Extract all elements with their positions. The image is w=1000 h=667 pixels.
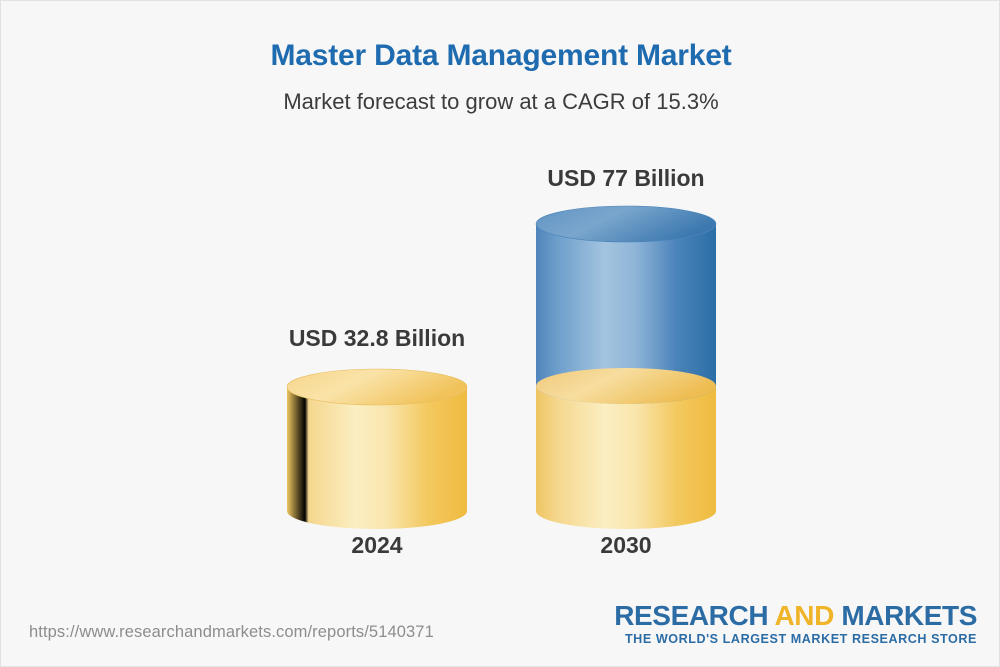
plot-area: USD 32.8 Billion [1,1,1000,601]
logo-word-and: AND [774,600,833,631]
research-and-markets-logo[interactable]: RESEARCH AND MARKETS THE WORLD'S LARGEST… [614,601,977,648]
value-label-2030: USD 77 Billion [496,165,756,192]
bar-2030[interactable] [526,196,726,539]
logo-word-research: RESEARCH [614,600,768,631]
logo-word-markets: MARKETS [841,600,977,631]
source-url[interactable]: https://www.researchandmarkets.com/repor… [29,623,434,642]
category-label-2030: 2030 [496,532,756,559]
logo-wordmark: RESEARCH AND MARKETS [614,601,977,630]
chart-canvas: Master Data Management Market Market for… [0,0,1000,667]
bar-2024[interactable] [277,359,477,539]
value-label-2024: USD 32.8 Billion [247,325,507,352]
logo-tagline: THE WORLD'S LARGEST MARKET RESEARCH STOR… [614,632,977,647]
category-label-2024: 2024 [247,532,507,559]
